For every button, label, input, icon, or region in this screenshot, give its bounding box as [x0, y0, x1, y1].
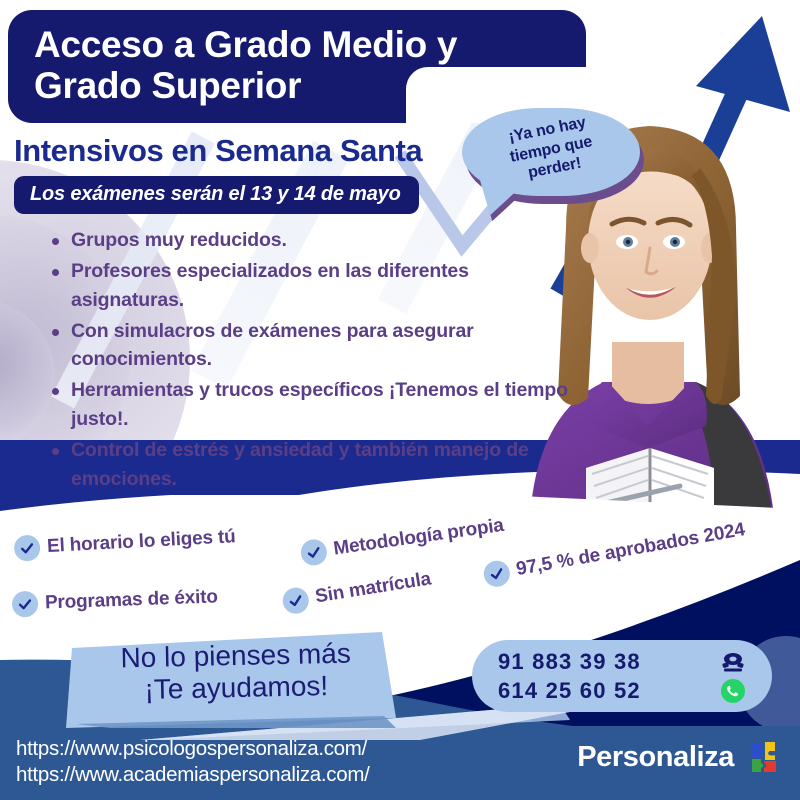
feature-check-no-fee: Sin matrícula [281, 566, 433, 615]
check-icon [281, 586, 311, 616]
feature-check-label: 97,5 % de aprobados 2024 [515, 519, 747, 581]
list-item: Herramientas y trucos específicos ¡Tenem… [52, 376, 572, 434]
feature-check-label: El horario lo eliges tú [47, 526, 237, 558]
promotional-poster: Acceso a Grado Medio y Grado Superior In… [0, 0, 800, 800]
cta-line-1: No lo pienses más [85, 637, 386, 676]
whatsapp-icon[interactable] [720, 678, 746, 704]
list-item: Profesores especializados en las diferen… [52, 257, 572, 315]
feature-check-label: Metodología propia [332, 515, 505, 561]
url-academias[interactable]: https://www.academiaspersonaliza.com/ [16, 762, 370, 788]
cta-message: No lo pienses más ¡Te ayudamos! [85, 637, 386, 708]
feature-check-label: Programas de éxito [45, 586, 218, 614]
poster-subtitle: Intensivos en Semana Santa [14, 133, 422, 169]
title-line-1: Acceso a Grado Medio y [34, 24, 560, 65]
feature-check-methodology: Metodología propia [299, 513, 505, 567]
bullet-dot-icon [52, 448, 59, 455]
list-item-label: Herramientas y trucos específicos ¡Tenem… [71, 376, 572, 434]
brand-name: Personaliza [577, 741, 734, 774]
list-item-label: Control de estrés y ansiedad y también m… [71, 436, 572, 494]
feature-check-label: Sin matrícula [314, 568, 433, 608]
bullet-dot-icon [52, 238, 59, 245]
brand-logo: Personaliza [577, 740, 782, 774]
telephone-icon [720, 649, 746, 675]
decor-circle-small [0, 300, 55, 450]
bullet-dot-icon [52, 388, 59, 395]
check-icon [482, 559, 512, 589]
list-item-label: Grupos muy reducidos. [71, 226, 287, 255]
check-icon [299, 538, 328, 567]
speech-bubble: ¡Ya no hay tiempo que perder! [462, 108, 650, 218]
list-item-label: Con simulacros de exámenes para asegurar… [71, 317, 572, 375]
list-item: Control de estrés y ansiedad y también m… [52, 436, 572, 494]
bullet-dot-icon [52, 269, 59, 276]
features-list: Grupos muy reducidos. Profesores especia… [52, 226, 572, 496]
feature-check-programs: Programas de éxito [12, 584, 219, 617]
whatsapp-number[interactable]: 614 25 60 52 [498, 678, 641, 704]
phone-number[interactable]: 91 883 39 38 [498, 649, 641, 675]
phone-row[interactable]: 91 883 39 38 [498, 649, 746, 675]
bullet-dot-icon [52, 329, 59, 336]
website-urls: https://www.psicologospersonaliza.com/ h… [16, 736, 370, 788]
check-icon [13, 534, 40, 561]
cta-line-2: ¡Te ayudamos! [86, 669, 387, 708]
feature-check-schedule: El horario lo eliges tú [13, 524, 236, 562]
poster-title: Acceso a Grado Medio y Grado Superior [8, 10, 586, 123]
exam-date-badge: Los exámenes serán el 13 y 14 de mayo [14, 176, 419, 214]
check-icon [12, 591, 39, 618]
list-item: Con simulacros de exámenes para asegurar… [52, 317, 572, 375]
list-item: Grupos muy reducidos. [52, 226, 572, 255]
whatsapp-row[interactable]: 614 25 60 52 [498, 678, 746, 704]
url-psicologos[interactable]: https://www.psicologospersonaliza.com/ [16, 736, 370, 762]
list-item-label: Profesores especializados en las diferen… [71, 257, 572, 315]
feature-check-pass-rate: 97,5 % de aprobados 2024 [482, 517, 747, 589]
puzzle-pieces-logo-icon [748, 740, 782, 774]
contact-panel: 91 883 39 38 614 25 60 52 [472, 640, 772, 712]
